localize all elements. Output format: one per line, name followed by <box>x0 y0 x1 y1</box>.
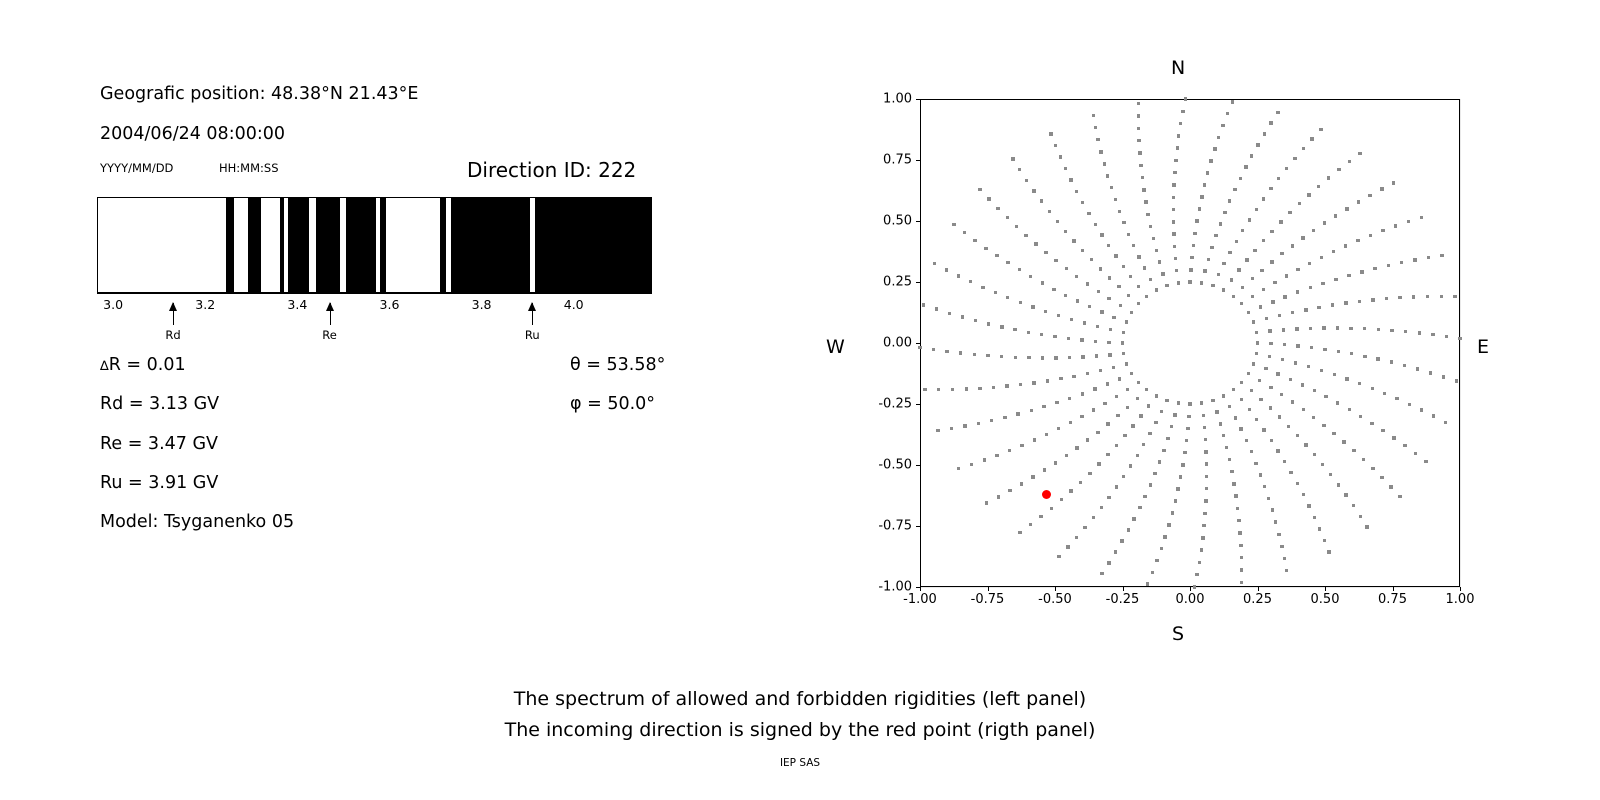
scatter-point <box>1332 432 1335 435</box>
scatter-point <box>1348 160 1351 163</box>
scatter-point <box>1059 155 1062 158</box>
angle-theta: θ = 53.58° <box>570 355 665 375</box>
scatter-point <box>977 422 980 425</box>
scatter-point <box>1342 440 1345 443</box>
scatter-point <box>1126 406 1129 409</box>
forbidden-band <box>288 197 309 293</box>
scatter-point <box>1067 337 1070 340</box>
scatter-point <box>1054 461 1057 464</box>
scatter-point <box>1148 432 1151 435</box>
scatter-point <box>1118 377 1121 380</box>
scatter-point <box>1086 438 1089 441</box>
scatter-point <box>1055 401 1058 404</box>
scatter-point <box>1215 410 1218 413</box>
scatter-point <box>1137 255 1140 258</box>
scatter-point <box>1149 278 1152 281</box>
scatter-point <box>1103 402 1106 405</box>
scatter-point <box>1200 401 1203 404</box>
scatter-point <box>1240 568 1243 571</box>
scatter-point <box>1041 281 1044 284</box>
scatter-point <box>1202 524 1205 527</box>
scatter-point <box>1413 258 1416 261</box>
scatter-point <box>1132 517 1135 520</box>
scatter-point <box>1424 460 1427 463</box>
scatter-point <box>994 291 997 294</box>
scatter-point <box>1302 147 1305 150</box>
scatter-point <box>1280 545 1283 548</box>
parameter-delta-r: ∆R = 0.01 <box>100 355 186 375</box>
scatter-point <box>1371 387 1374 390</box>
scatter-point <box>1040 199 1043 202</box>
scatter-point <box>1210 246 1213 249</box>
scatter-point <box>1045 433 1048 436</box>
scatter-point <box>1013 328 1016 331</box>
scatter-point <box>1358 300 1361 303</box>
scatter-point <box>1173 171 1176 174</box>
scatter-point <box>1094 126 1097 129</box>
scatter-point <box>965 387 968 390</box>
scatter-point <box>1313 516 1316 519</box>
scatter-point <box>1323 221 1326 224</box>
scatter-point <box>1370 422 1373 425</box>
scatter-point <box>1137 285 1140 288</box>
scatter-point <box>1232 295 1235 298</box>
scatter-point <box>1283 295 1286 298</box>
scatter-point <box>1225 446 1228 449</box>
y-axis-tick-label: -0.75 <box>857 519 912 534</box>
scatter-point <box>1092 114 1095 117</box>
scatter-point <box>1385 297 1388 300</box>
scatter-point <box>1130 311 1133 314</box>
scatter-point <box>1006 216 1009 219</box>
scatter-point <box>1054 356 1057 359</box>
scatter-point <box>1027 331 1030 334</box>
scatter-point <box>969 280 972 283</box>
scatter-point <box>1273 281 1276 284</box>
scatter-point <box>963 424 966 427</box>
scatter-point <box>1267 497 1270 500</box>
scatter-point <box>1189 268 1192 271</box>
scatter-point <box>1383 392 1386 395</box>
scatter-point <box>1127 233 1130 236</box>
scatter-point <box>1317 185 1320 188</box>
scatter-point <box>1116 414 1119 417</box>
scatter-point <box>918 346 921 349</box>
scatter-point <box>1331 303 1334 306</box>
scatter-point <box>1277 533 1280 536</box>
scatter-point <box>1262 428 1265 431</box>
scatter-point <box>1143 266 1146 269</box>
scatter-point <box>1092 408 1095 411</box>
scatter-point <box>986 354 989 357</box>
scatter-point <box>1259 398 1262 401</box>
scatter-point <box>935 307 938 310</box>
scatter-point <box>1318 527 1321 530</box>
scatter-point <box>1185 439 1188 442</box>
scatter-point <box>1344 244 1347 247</box>
scatter-point <box>1200 548 1203 551</box>
scatter-point <box>1230 470 1233 473</box>
scatter-point <box>1172 196 1175 199</box>
y-axis-tick-label: 1.00 <box>857 92 912 107</box>
scatter-point <box>1403 364 1406 367</box>
scatter-point <box>973 239 976 242</box>
scatter-point <box>1283 557 1286 560</box>
scatter-point <box>1025 179 1028 182</box>
scatter-point <box>1302 408 1305 411</box>
scatter-point <box>1333 373 1336 376</box>
scatter-point <box>1145 388 1148 391</box>
scatter-point <box>1083 526 1086 529</box>
scatter-point <box>1219 422 1222 425</box>
scatter-point <box>1252 362 1255 365</box>
scatter-point <box>1352 449 1355 452</box>
x-axis-tick-mark <box>1258 587 1259 591</box>
scatter-point <box>1368 194 1371 197</box>
scatter-point <box>1312 229 1315 232</box>
scatter-point <box>1160 410 1163 413</box>
scatter-point <box>1250 154 1253 157</box>
scatter-point <box>1319 128 1322 131</box>
scatter-point <box>1369 234 1372 237</box>
scatter-point <box>997 495 1000 498</box>
scatter-point <box>1106 422 1109 425</box>
scatter-point <box>1259 305 1262 308</box>
scatter-point <box>1442 375 1445 378</box>
scatter-point <box>1153 472 1156 475</box>
scatter-point <box>1310 346 1313 349</box>
forbidden-band <box>440 197 446 293</box>
scatter-point <box>1285 569 1288 572</box>
scatter-point <box>1125 362 1128 365</box>
scatter-point <box>1167 523 1170 526</box>
scatter-point <box>992 386 995 389</box>
y-axis-tick-label: 0.25 <box>857 275 912 290</box>
scatter-point <box>1222 288 1225 291</box>
spectrum-tick-label: 3.4 <box>287 297 307 312</box>
scatter-point <box>1278 415 1281 418</box>
scatter-point <box>1174 499 1177 502</box>
scatter-point <box>1075 190 1078 193</box>
scatter-point <box>1114 550 1117 553</box>
scatter-point <box>1398 495 1401 498</box>
scatter-point <box>1119 304 1122 307</box>
scatter-point <box>1068 397 1071 400</box>
scatter-point <box>1088 472 1091 475</box>
scatter-point <box>1198 207 1201 210</box>
scatter-point <box>1115 485 1118 488</box>
forbidden-band <box>226 197 234 293</box>
scatter-point <box>1282 328 1285 331</box>
scatter-point <box>1132 244 1135 247</box>
scatter-point <box>1268 355 1271 358</box>
scatter-point <box>1176 146 1179 149</box>
scatter-point <box>1444 421 1447 424</box>
scatter-point <box>1309 286 1312 289</box>
scatter-point <box>1081 392 1084 395</box>
scatter-point <box>1420 408 1423 411</box>
scatter-point <box>1172 220 1175 223</box>
scatter-point <box>1247 372 1250 375</box>
scatter-point <box>1066 545 1069 548</box>
scatter-point <box>1302 493 1305 496</box>
forbidden-band <box>316 197 340 293</box>
scatter-point <box>1097 462 1100 465</box>
scatter-point <box>1072 375 1075 378</box>
scatter-point <box>1348 408 1351 411</box>
scatter-point <box>1392 181 1395 184</box>
scatter-point <box>1276 372 1279 375</box>
scatter-point <box>1177 281 1180 284</box>
parameter-model: Model: Tsyganenko 05 <box>100 512 294 532</box>
scatter-point <box>1137 102 1140 105</box>
scatter-point <box>1183 451 1186 454</box>
scatter-point <box>1188 402 1191 405</box>
scatter-point <box>1276 111 1279 114</box>
scatter-point <box>1094 340 1097 343</box>
scatter-point <box>1420 216 1423 219</box>
scatter-point <box>1163 535 1166 538</box>
figure-canvas: Geografic position: 48.38°N 21.43°E 2004… <box>0 0 1600 800</box>
scatter-point <box>1296 344 1299 347</box>
forbidden-band <box>451 197 530 293</box>
y-axis-tick-label: 0.50 <box>857 214 912 229</box>
scatter-point <box>1404 330 1407 333</box>
scatter-point <box>1320 256 1323 259</box>
scatter-point <box>1020 444 1023 447</box>
scatter-point <box>1255 331 1258 334</box>
scatter-point <box>1255 352 1258 355</box>
scatter-point <box>1155 559 1158 562</box>
scatter-point <box>1240 398 1243 401</box>
scatter-point <box>1380 187 1383 190</box>
forbidden-band <box>380 197 386 293</box>
scatter-point <box>1219 222 1222 225</box>
scatter-point <box>1018 531 1021 534</box>
scatter-point <box>1123 434 1126 437</box>
scatter-point <box>1381 429 1384 432</box>
scatter-point <box>957 467 960 470</box>
scatter-point <box>1256 143 1259 146</box>
scatter-point <box>1147 404 1150 407</box>
y-axis-tick-label: -0.25 <box>857 397 912 412</box>
scatter-point <box>1097 290 1100 293</box>
scatter-point <box>1204 450 1207 453</box>
scatter-point <box>1030 409 1033 412</box>
scatter-point <box>1139 164 1142 167</box>
parameter-re: Re = 3.47 GV <box>100 434 218 454</box>
scatter-point <box>1445 335 1448 338</box>
time-format-hint: HH:MM:SS <box>219 161 279 175</box>
scatter-point <box>1241 286 1244 289</box>
scatter-point <box>1416 367 1419 370</box>
caption-line-1: The spectrum of allowed and forbidden ri… <box>0 688 1600 710</box>
scatter-point <box>1112 316 1115 319</box>
scatter-point <box>1412 295 1415 298</box>
scatter-point <box>1334 278 1337 281</box>
scatter-point <box>1107 341 1110 344</box>
caption-line-2: The incoming direction is signed by the … <box>0 719 1600 741</box>
scatter-point <box>1193 232 1196 235</box>
forbidden-band <box>248 197 261 293</box>
scatter-point <box>1395 397 1398 400</box>
scatter-point <box>1400 261 1403 264</box>
scatter-point <box>1296 482 1299 485</box>
scatter-point <box>1269 187 1272 190</box>
scatter-point <box>1458 337 1461 340</box>
scatter-point <box>978 188 981 191</box>
scatter-point <box>1289 378 1292 381</box>
scatter-point <box>1263 132 1266 135</box>
scatter-point <box>1064 167 1067 170</box>
scatter-point <box>1234 416 1237 419</box>
scatter-point <box>1285 274 1288 277</box>
scatter-point <box>1149 225 1152 228</box>
marker-arrow-ru <box>532 303 533 325</box>
y-axis-tick-mark <box>916 404 920 405</box>
scatter-point <box>1259 473 1262 476</box>
scatter-point <box>937 388 940 391</box>
scatter-point <box>1181 463 1184 466</box>
marker-arrow-rd <box>173 303 174 325</box>
scatter-point <box>1137 302 1140 305</box>
scatter-point <box>996 207 999 210</box>
scatter-point <box>1099 150 1102 153</box>
scatter-point <box>1241 229 1244 232</box>
scatter-point <box>952 223 955 226</box>
scatter-point <box>1359 515 1362 518</box>
scatter-point <box>1052 288 1055 291</box>
scatter-point <box>951 388 954 391</box>
scatter-point <box>1146 582 1149 585</box>
scatter-point <box>1228 405 1231 408</box>
datetime-label: 2004/06/24 08:00:00 <box>100 124 285 144</box>
scatter-point <box>1256 341 1259 344</box>
scatter-point <box>1206 171 1209 174</box>
scatter-point <box>1337 483 1340 486</box>
scatter-point <box>1057 555 1060 558</box>
scatter-point <box>1176 487 1179 490</box>
scatter-point <box>1107 561 1110 564</box>
scatter-point <box>1069 178 1072 181</box>
scatter-point <box>1112 366 1115 369</box>
scatter-point <box>1114 198 1117 201</box>
scatter-point <box>1006 296 1009 299</box>
scatter-point <box>936 429 939 432</box>
scatter-point <box>1093 387 1096 390</box>
scatter-point <box>1173 245 1176 248</box>
scatter-point <box>1143 495 1146 498</box>
scatter-point <box>1057 314 1060 317</box>
scatter-point <box>1228 199 1231 202</box>
scatter-point <box>1126 388 1129 391</box>
scatter-point <box>1291 400 1294 403</box>
x-axis-tick-label: 1.00 <box>1446 592 1475 607</box>
scatter-point <box>1217 136 1220 139</box>
scatter-point <box>1179 122 1182 125</box>
scatter-point <box>1049 132 1052 135</box>
scatter-point <box>1172 208 1175 211</box>
scatter-point <box>1236 507 1239 510</box>
scatter-point <box>1281 358 1284 361</box>
scatter-point <box>1106 453 1109 456</box>
scatter-point <box>1262 197 1265 200</box>
angle-phi: φ = 50.0° <box>570 394 655 414</box>
scatter-point <box>1173 413 1176 416</box>
scatter-point <box>1269 121 1272 124</box>
y-axis-tick-mark <box>916 99 920 100</box>
scatter-point <box>1264 367 1267 370</box>
scatter-point <box>1237 519 1240 522</box>
scatter-point <box>1365 525 1368 528</box>
y-axis-tick-mark <box>916 160 920 161</box>
scatter-point <box>1205 462 1208 465</box>
scatter-point <box>1136 454 1139 457</box>
forbidden-band <box>280 197 285 293</box>
scatter-point <box>1283 343 1286 346</box>
scatter-point <box>1029 275 1032 278</box>
scatter-point <box>1193 585 1196 588</box>
scatter-point <box>1000 355 1003 358</box>
scatter-point <box>1440 295 1443 298</box>
scatter-point <box>1347 274 1350 277</box>
scatter-point <box>1125 320 1128 323</box>
scatter-point <box>1359 415 1362 418</box>
scatter-point <box>1250 450 1253 453</box>
scatter-point <box>1277 177 1280 180</box>
scatter-point <box>1094 223 1097 226</box>
scatter-point <box>1301 236 1304 239</box>
scatter-point <box>1269 386 1272 389</box>
scatter-point <box>1203 512 1206 515</box>
x-axis-tick-label: 0.50 <box>1311 592 1340 607</box>
scatter-point <box>1345 377 1348 380</box>
scatter-point <box>1203 269 1206 272</box>
scatter-point <box>1096 138 1099 141</box>
scatter-point <box>1198 561 1201 564</box>
scatter-point <box>1057 427 1060 430</box>
scatter-point <box>1262 288 1265 291</box>
scatter-point <box>1122 352 1125 355</box>
scatter-point <box>1203 183 1206 186</box>
scatter-point <box>1390 360 1393 363</box>
scatter-point <box>1166 437 1169 440</box>
scatter-point <box>1171 511 1174 514</box>
scatter-point <box>1276 449 1279 452</box>
scatter-point <box>1174 159 1177 162</box>
scatter-point <box>1175 269 1178 272</box>
scatter-point <box>1137 139 1140 142</box>
scatter-point <box>1262 239 1265 242</box>
scatter-point <box>1307 504 1310 507</box>
scatter-point <box>1234 494 1237 497</box>
scatter-point <box>1044 310 1047 313</box>
scatter-point <box>1075 275 1078 278</box>
scatter-point <box>1381 229 1384 232</box>
scatter-point <box>1106 174 1109 177</box>
scatter-point <box>961 315 964 318</box>
scatter-point <box>1204 438 1207 441</box>
scatter-point <box>1371 298 1374 301</box>
scatter-point <box>1394 224 1397 227</box>
scatter-point <box>1031 305 1034 308</box>
scatter-point <box>1205 475 1208 478</box>
compass-south-label: S <box>1172 623 1184 645</box>
scatter-point <box>1270 260 1273 263</box>
scatter-point <box>1120 539 1123 542</box>
marker-label-re: Re <box>322 328 337 342</box>
x-axis-tick-label: -0.25 <box>1106 592 1140 607</box>
